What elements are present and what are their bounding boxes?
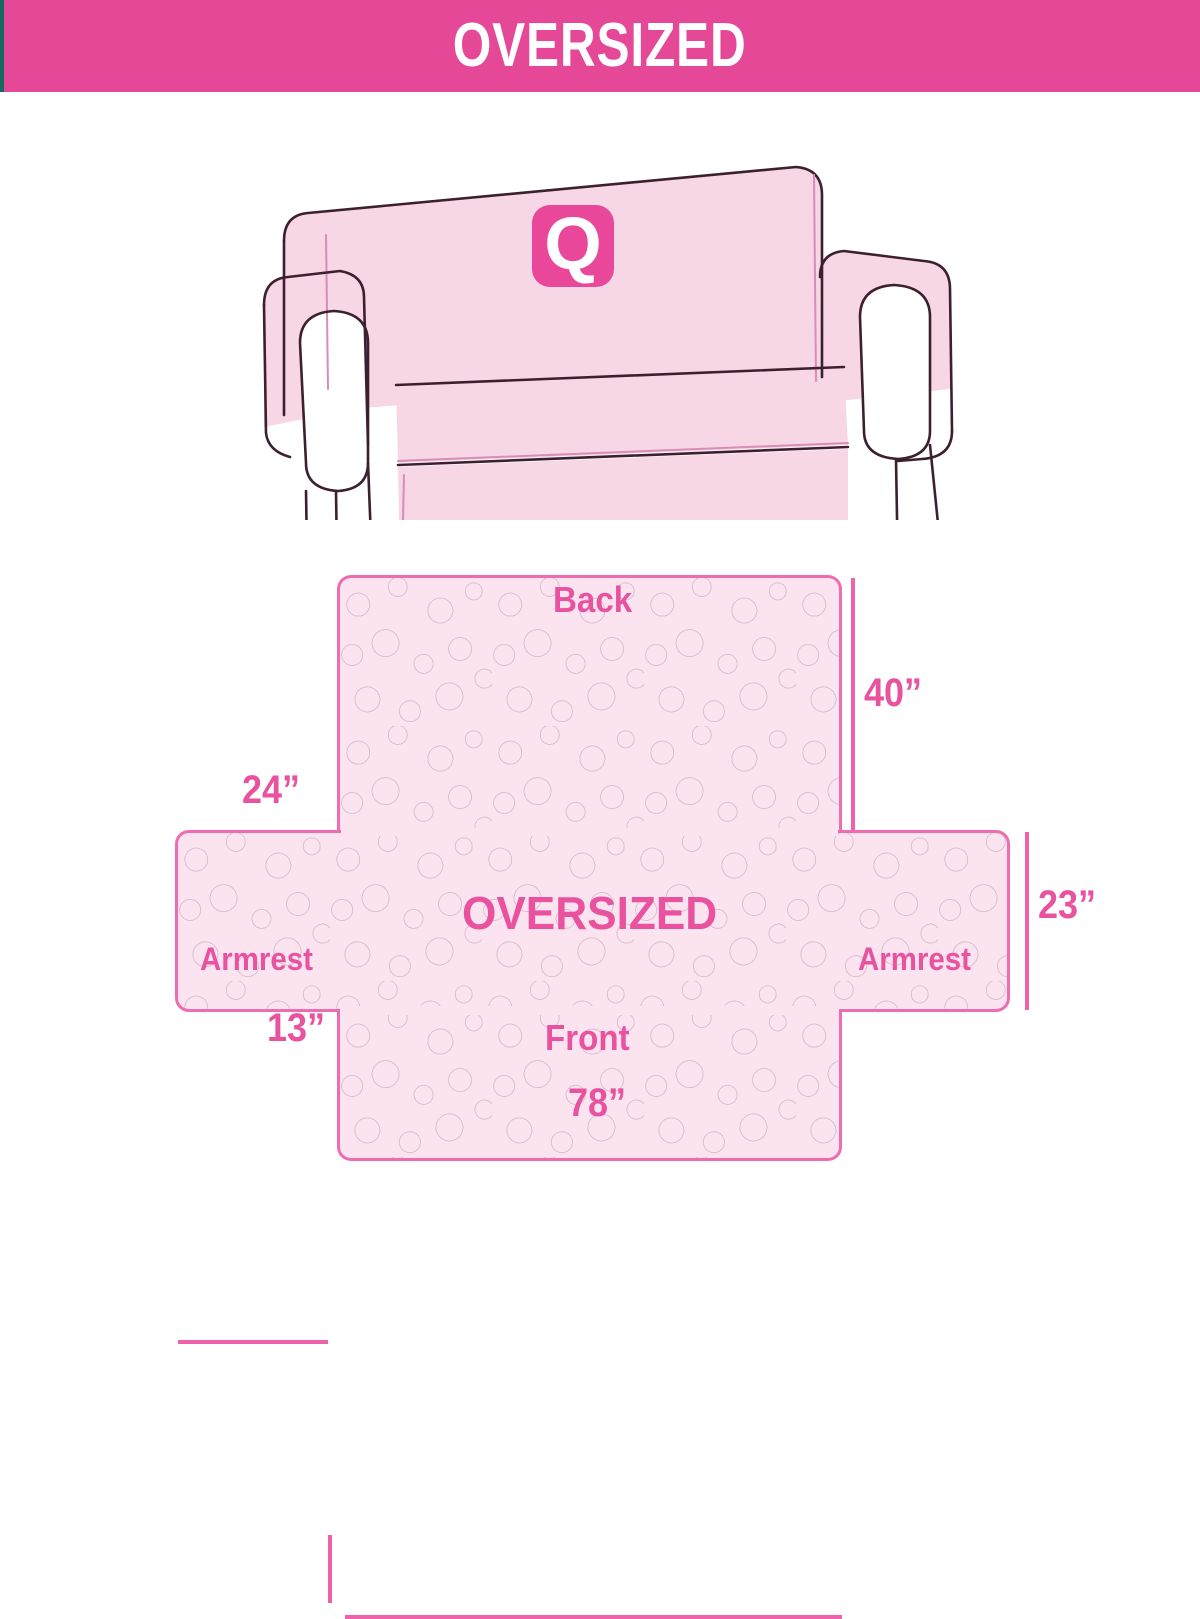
label-armrest-right: Armrest <box>858 943 971 975</box>
label-back: Back <box>553 582 632 618</box>
label-armrest-left: Armrest <box>200 943 313 975</box>
dimension-label-front-height: 13” <box>267 1008 325 1048</box>
sofa-left-arm-roll-fill <box>300 311 368 491</box>
sofa-illustration <box>248 145 968 520</box>
dimension-label-armrest-width: 24” <box>242 770 300 810</box>
dimension-line-armrest-height <box>1025 832 1029 1010</box>
dimension-line-overall-width <box>345 1615 842 1619</box>
dimension-line-armrest-width <box>178 1340 328 1344</box>
dimension-label-armrest-height: 23” <box>1038 885 1096 925</box>
dimension-line-front-height <box>328 1535 332 1603</box>
cover-layout-diagram: Back Front Armrest Armrest OVERSIZED <box>0 540 1200 1140</box>
sofa-drawing-svg <box>248 145 968 520</box>
sofa-right-arm-roll-fill <box>860 285 930 459</box>
header-edge-stripe <box>0 0 4 92</box>
brand-logo-letter: Q <box>544 207 602 281</box>
label-oversized-center: OVERSIZED <box>462 890 717 936</box>
header-banner: OVERSIZED <box>0 0 1200 92</box>
dimension-label-overall-width: 78” <box>568 1083 626 1123</box>
page-title: OVERSIZED <box>453 15 747 77</box>
label-front: Front <box>545 1020 630 1056</box>
sofa-left-arm-inner-drop <box>368 463 374 520</box>
seam-bottom <box>341 1006 838 1015</box>
brand-logo: Q <box>532 205 614 287</box>
seam-top <box>341 828 838 836</box>
dimension-line-back-height <box>851 578 855 830</box>
dimension-label-back-height: 40” <box>864 673 922 713</box>
